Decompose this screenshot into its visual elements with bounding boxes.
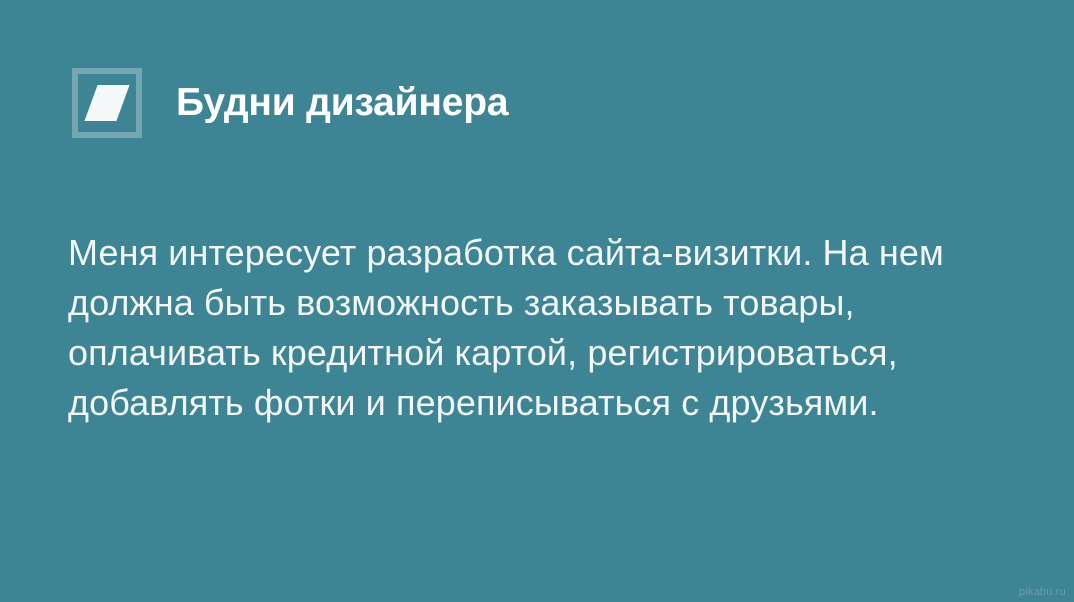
quote-line: оплачивать кредитной картой, регистриров… <box>68 328 998 378</box>
quote-line: Меня интересует разработка сайта-визитки… <box>68 228 998 278</box>
slash-mark-logo-icon <box>72 68 142 138</box>
quote-line: добавлять фотки и переписываться с друзь… <box>68 378 998 428</box>
watermark: pikabu.ru <box>1019 586 1066 598</box>
poster-card: Будни дизайнера Меня интересует разработ… <box>0 0 1074 602</box>
quote-line: должна быть возможность заказывать товар… <box>68 278 998 328</box>
quote-text: Меня интересует разработка сайта-визитки… <box>68 228 998 428</box>
logo-slash-shape <box>84 85 129 121</box>
page-title: Будни дизайнера <box>176 68 508 138</box>
header: Будни дизайнера <box>72 68 508 138</box>
